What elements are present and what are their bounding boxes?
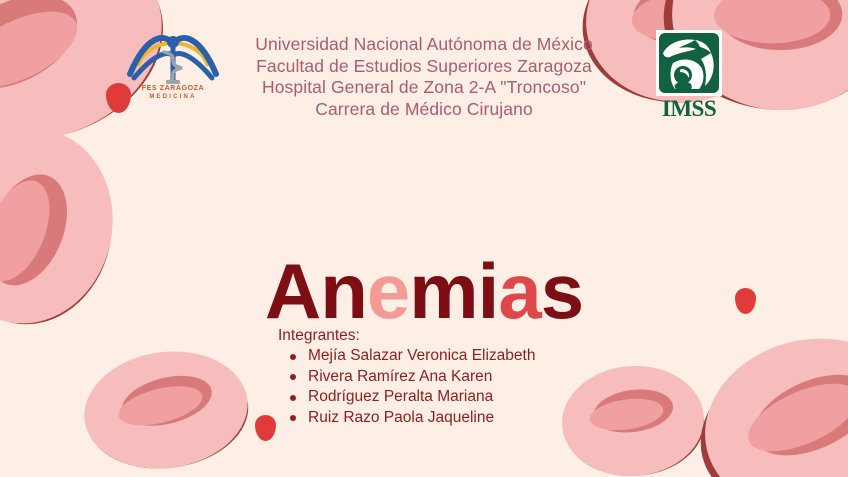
rbc-dimple-highlight [115,379,207,433]
rbc-dimple-highlight [0,0,88,103]
member-list-item: Rodríguez Peralta Mariana [308,387,535,408]
fes-logo-text-line-1: FES ZARAGOZA [124,85,222,92]
imss-wordmark: IMSS [650,96,728,122]
rbc-shadow [561,370,708,477]
member-name: Mejía Salazar Veronica Elizabeth [308,347,535,364]
integrantes-label: Integrantes: [278,326,535,345]
imss-logo: IMSS [650,30,728,124]
member-list-item: Mejía Salazar Veronica Elizabeth [308,346,535,367]
rbc-body [558,361,707,477]
title-letter-3: m [409,247,477,335]
member-name: Rodríguez Peralta Mariana [308,388,493,405]
red-blood-cell-decoration [77,341,256,477]
rbc-dimple [591,385,676,438]
title-letter-0: A [265,247,320,335]
blood-drop-icon [255,415,276,441]
fes-zaragoza-logo: FES ZARAGOZA MEDICINA [124,28,222,110]
institution-header: Universidad Nacional Autónoma de México … [222,34,626,120]
bullet-icon [290,415,296,421]
fes-zaragoza-emblem-icon [124,28,222,88]
integrantes-section: Integrantes: Mejía Salazar Veronica Eliz… [278,326,535,428]
header-line-university: Universidad Nacional Autónoma de México [222,34,626,56]
member-list-item: Ruiz Razo Paola Jaqueline [308,408,535,429]
rbc-dimple [0,0,92,108]
rbc-body [77,341,256,477]
rbc-dimple-highlight [738,370,848,465]
title-letter-1: n [320,247,367,335]
bullet-icon [290,354,296,360]
bullet-icon [290,374,296,380]
rbc-body [687,317,848,477]
rbc-dimple [741,358,848,471]
rbc-shadow [80,350,255,477]
member-list: Mejía Salazar Veronica ElizabethRivera R… [278,346,535,428]
title-letter-4: i [478,247,499,335]
imss-eagle-mother-child-icon [659,33,719,93]
member-list-item: Rivera Ramírez Ana Karen [308,367,535,388]
member-name: Ruiz Razo Paola Jaqueline [308,409,494,426]
red-blood-cell-decoration [687,317,848,477]
rbc-shadow [683,327,848,477]
header-line-faculty: Facultad de Estudios Superiores Zaragoza [222,56,626,78]
page-title: Anemias [0,248,848,334]
rbc-dimple [718,0,842,50]
rbc-dimple-highlight [588,394,665,434]
header-line-career: Carrera de Médico Cirujano [222,99,626,121]
title-letter-6: s [541,247,583,335]
header-line-hospital: Hospital General de Zona 2-A "Troncoso" [222,77,626,99]
rbc-dimple-highlight [714,0,830,43]
red-blood-cell-decoration [558,361,707,477]
title-letter-2: e [367,247,409,335]
presentation-title-slide: FES ZARAGOZA MEDICINA [0,0,848,477]
imss-emblem-icon [656,30,722,96]
fes-logo-text-line-2: MEDICINA [124,94,222,100]
member-name: Rivera Ramírez Ana Karen [308,368,492,385]
title-letter-5: a [498,247,540,335]
rbc-dimple [117,367,217,434]
bullet-icon [290,395,296,401]
